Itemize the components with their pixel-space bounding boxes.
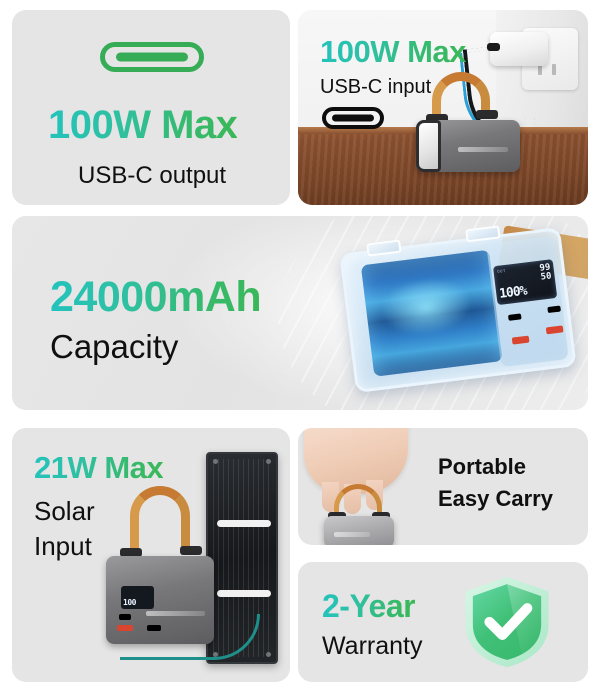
led-display: OUT 100% 9950 [493, 259, 557, 305]
capacity-headline: 24000mAh [50, 273, 261, 322]
power-bank-light-panel [416, 120, 441, 172]
card-portable-easy-carry: Portable Easy Carry [298, 428, 588, 545]
transparent-power-bank: OUT 100% 9950 [339, 227, 576, 393]
capacity-subline: Capacity [50, 328, 178, 366]
carry-strap [130, 486, 190, 550]
power-bank-brand-logo [146, 611, 205, 616]
display-percent: 100 [123, 598, 136, 607]
power-bank-device: 100 [106, 556, 214, 644]
solar-subline-1: Solar [34, 496, 95, 527]
usbc-output-subline: USB-C output [78, 162, 226, 190]
usb-c-port-2 [119, 614, 131, 620]
display-percent: 100% [498, 283, 527, 301]
warranty-subline: Warranty [322, 632, 422, 661]
strap-mount-right [180, 546, 202, 555]
usb-c-port [147, 625, 161, 631]
led-display: 100 [121, 586, 153, 609]
portable-line-1: Portable [438, 454, 526, 480]
power-bank-brand-logo [458, 147, 508, 152]
card-warranty: 2-Year Warranty [298, 562, 588, 682]
panel-handle-top [217, 520, 271, 527]
usb-c-connector-icon [322, 107, 384, 129]
display-label-out: OUT [497, 268, 506, 274]
usb-c-connector-icon [100, 42, 204, 72]
card-usbc-input: 100W Max USB-C input [298, 10, 588, 205]
power-bank-device [324, 516, 394, 545]
usb-a-port [117, 625, 133, 631]
battery-cells-glow [361, 250, 502, 377]
card-capacity: 24000mAh Capacity OUT 100% 9950 [12, 216, 588, 410]
usbc-input-subline: USB-C input [320, 76, 431, 99]
power-bank-brand-logo [334, 532, 370, 537]
product-feature-grid: 100W Max USB-C output 100 [0, 0, 600, 692]
strap-mount-right [476, 110, 498, 119]
usbc-output-headline: 100W Max [48, 103, 237, 148]
display-secondary: 9950 [539, 264, 552, 283]
card-usbc-output: 100W Max USB-C output [12, 10, 290, 205]
power-bank-device [416, 120, 520, 172]
shield-check-icon [460, 574, 554, 670]
usbc-input-headline: 100W Max [320, 34, 466, 70]
card-solar-input: 21W Max Solar Input 100 [12, 428, 290, 682]
portable-line-2: Easy Carry [438, 486, 553, 512]
solar-headline: 21W Max [34, 450, 163, 486]
panel-handle-bottom [217, 590, 271, 597]
solar-subline-2: Input [34, 531, 92, 562]
warranty-headline: 2-Year [322, 588, 415, 625]
